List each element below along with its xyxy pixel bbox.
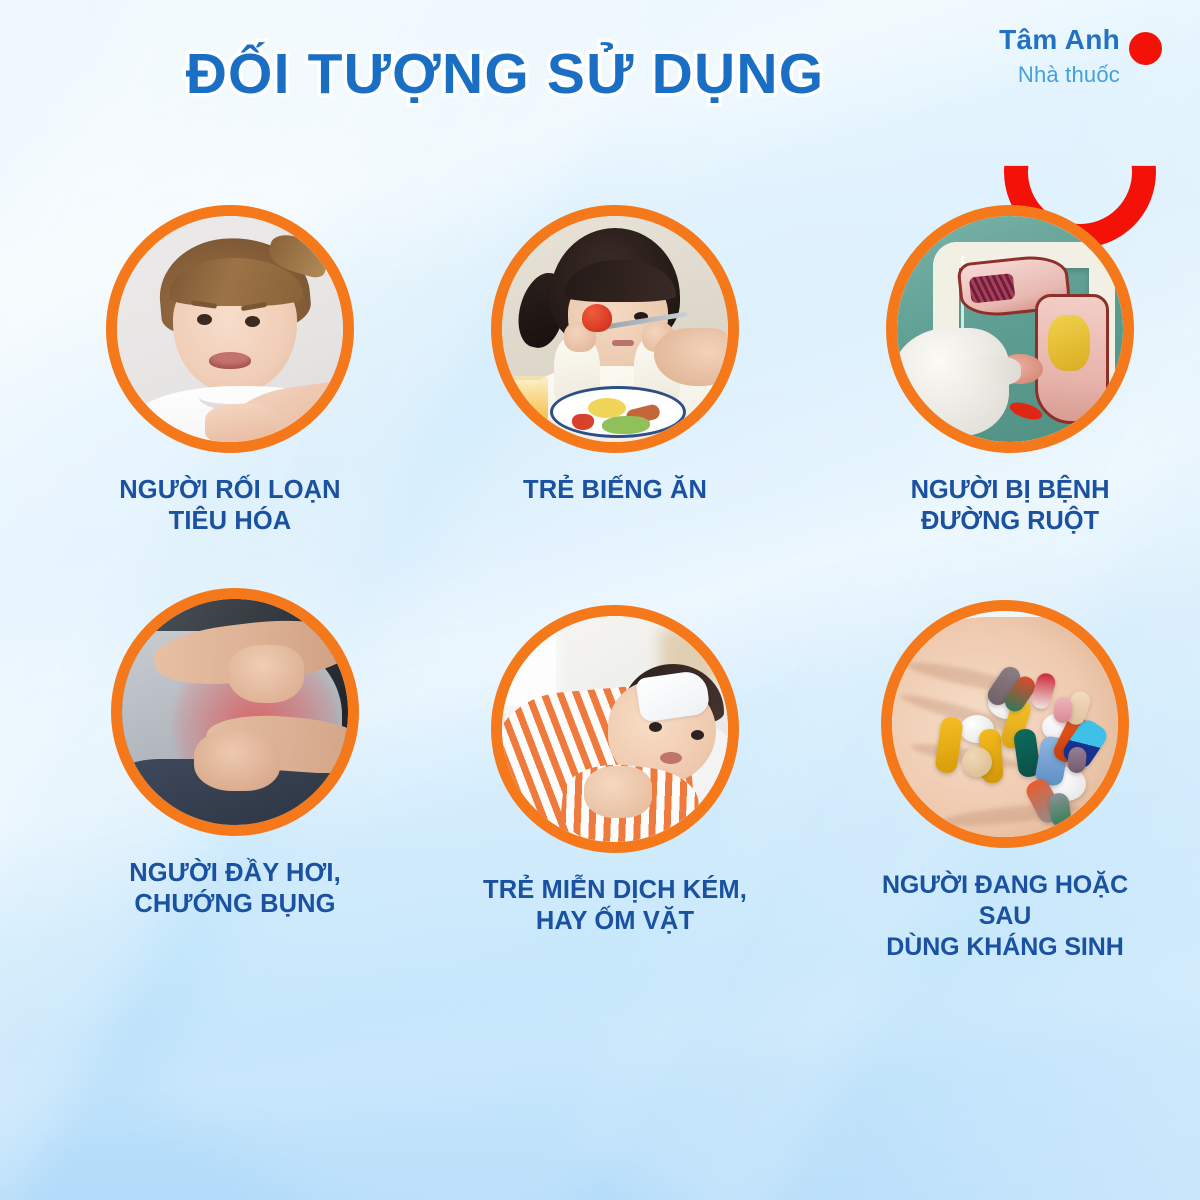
photo-ring — [491, 205, 739, 453]
card-caption: NGƯỜI ĐANG HOẶC SAU DÙNG KHÁNG SINH — [855, 870, 1155, 962]
card-item: NGƯỜI RỐI LOẠN TIÊU HÓA — [80, 205, 380, 538]
photo-ring — [111, 588, 359, 836]
card-caption: NGƯỜI RỐI LOẠN TIÊU HÓA — [80, 475, 380, 538]
palm-full-of-pills-photo — [892, 611, 1118, 837]
bloated-abdomen-pain-photo — [122, 599, 348, 825]
girl-refusing-food-photo — [502, 216, 728, 442]
card-caption: NGƯỜI BỊ BỆNH ĐƯỜNG RUỘT — [860, 475, 1160, 538]
card-item: TRẺ BIẾNG ĂN — [465, 205, 765, 506]
card-item: NGƯỜI ĐẦY HƠI, CHƯỚNG BỤNG — [85, 588, 385, 921]
brand-logo: Tâm Anh Nhà thuốc — [982, 18, 1172, 178]
card-item: TRẺ MIỄN DỊCH KÉM, HAY ỐM VẶT — [465, 605, 765, 938]
infographic-poster: ĐỐI TƯỢNG SỬ DỤNG Tâm Anh Nhà thuốc NGƯỜ… — [0, 0, 1200, 1200]
photo-ring — [491, 605, 739, 853]
brand-name: Tâm Anh — [999, 24, 1120, 56]
intestine-anatomy-model-photo — [897, 216, 1123, 442]
card-caption: TRẺ MIỄN DỊCH KÉM, HAY ỐM VẶT — [465, 875, 765, 938]
card-item: NGƯỜI ĐANG HOẶC SAU DÙNG KHÁNG SINH — [855, 600, 1155, 962]
brand-subtitle: Nhà thuốc — [1018, 62, 1120, 88]
photo-ring — [886, 205, 1134, 453]
card-caption: TRẺ BIẾNG ĂN — [465, 475, 765, 506]
boy-with-stomach-ache-photo — [117, 216, 343, 442]
photo-ring — [106, 205, 354, 453]
page-title: ĐỐI TƯỢNG SỬ DỤNG — [0, 46, 1010, 103]
card-item: NGƯỜI BỊ BỆNH ĐƯỜNG RUỘT — [860, 205, 1160, 538]
photo-ring — [881, 600, 1129, 848]
background-light-streak — [0, 932, 1200, 1158]
red-dot-icon — [1129, 32, 1162, 65]
sick-child-in-bed-photo — [502, 616, 728, 842]
card-caption: NGƯỜI ĐẦY HƠI, CHƯỚNG BỤNG — [85, 858, 385, 921]
